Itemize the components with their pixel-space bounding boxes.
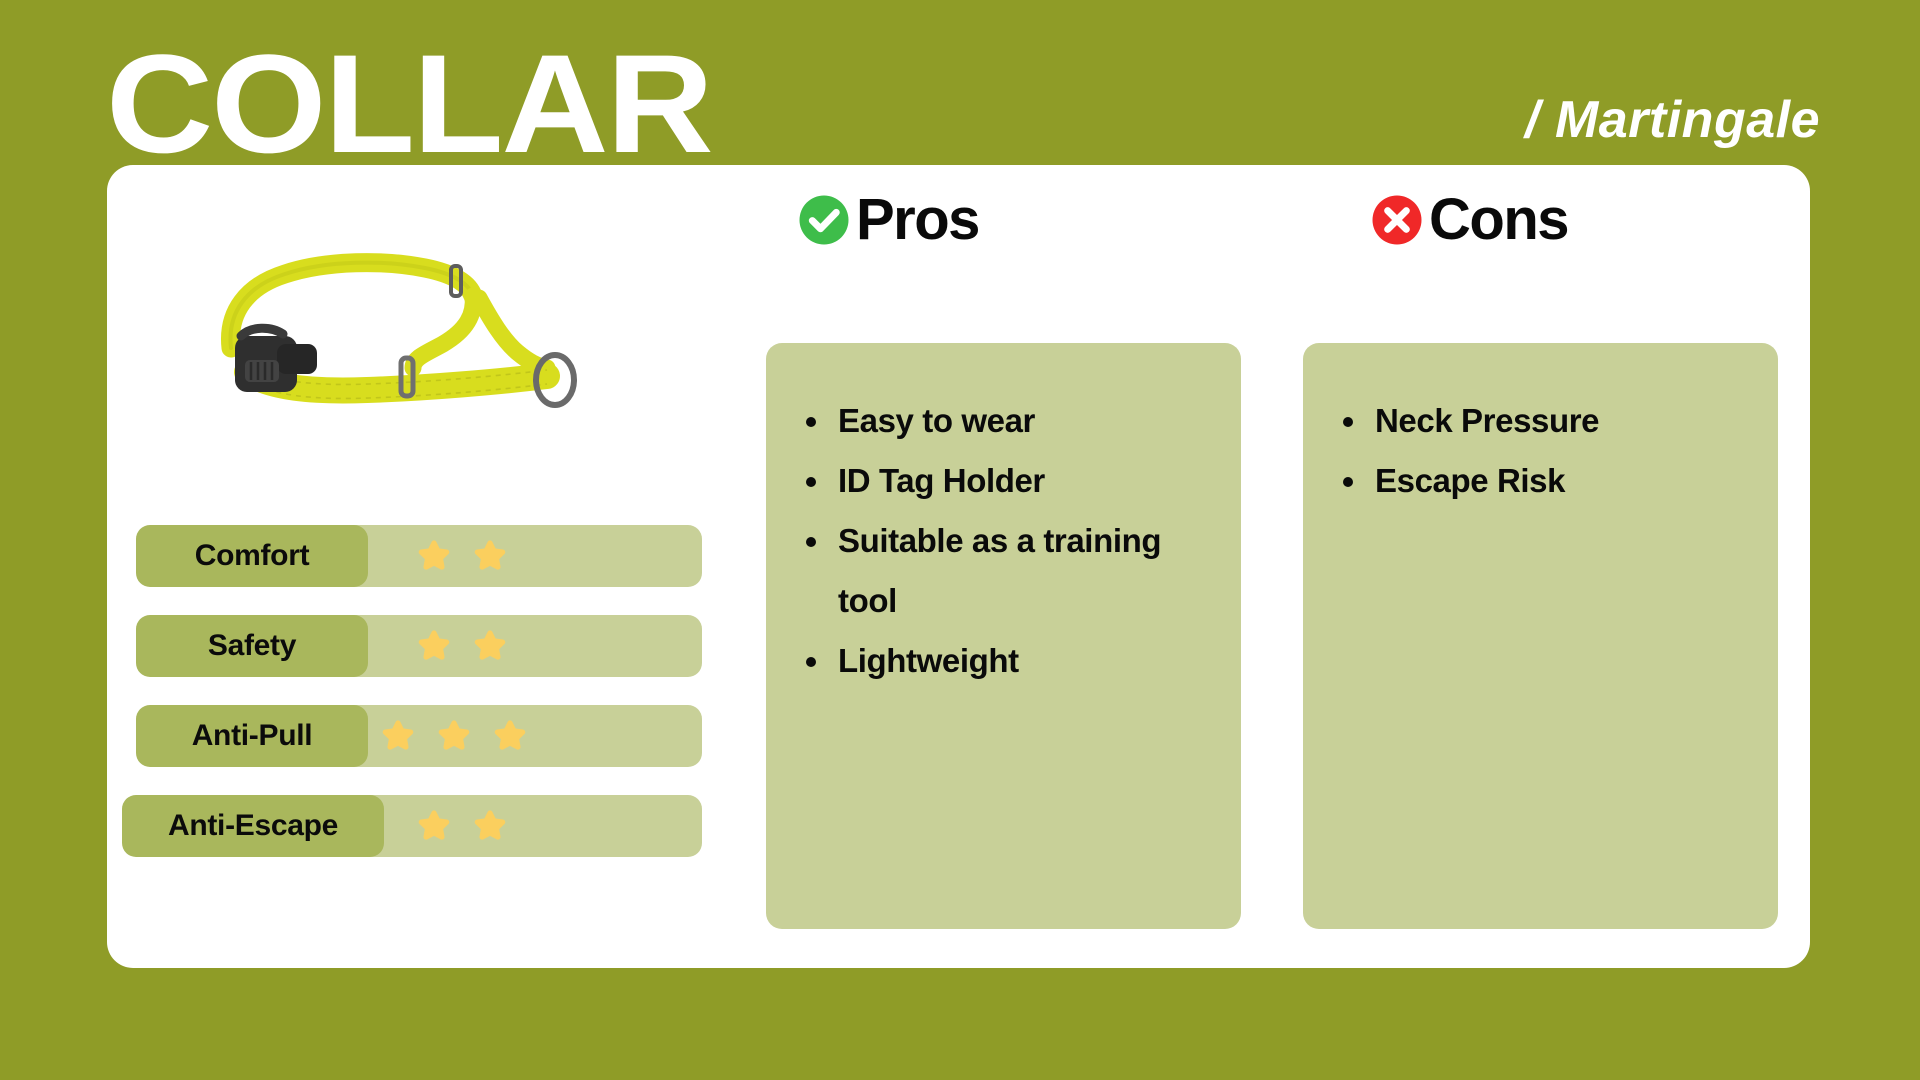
pros-heading-label: Pros: [856, 191, 979, 249]
star-icon: [414, 626, 454, 666]
rating-stars-anti-escape: [414, 795, 510, 857]
star-icon: [434, 716, 474, 756]
product-image-area: [117, 200, 717, 490]
cons-list: Neck Pressure Escape Risk: [1337, 391, 1754, 511]
variant-title: / Martingale: [1525, 92, 1820, 148]
list-item: ID Tag Holder: [826, 451, 1217, 511]
star-icon: [490, 716, 530, 756]
pros-card: Easy to wear ID Tag Holder Suitable as a…: [766, 343, 1241, 929]
rating-stars-anti-pull: [378, 705, 530, 767]
rating-label-safety: Safety: [136, 615, 368, 677]
rating-label-comfort: Comfort: [136, 525, 368, 587]
rating-row: Anti-Pull: [122, 705, 712, 767]
page-title: COLLAR: [106, 34, 712, 174]
rating-label-anti-escape: Anti-Escape: [122, 795, 384, 857]
rating-label-anti-pull: Anti-Pull: [136, 705, 368, 767]
pros-column: Pros Easy to wear ID Tag Holder Suitable…: [766, 185, 1241, 255]
list-item: Easy to wear: [826, 391, 1217, 451]
rating-row: Comfort: [122, 525, 712, 587]
pros-list: Easy to wear ID Tag Holder Suitable as a…: [800, 391, 1217, 691]
check-circle-icon: [796, 192, 852, 248]
list-item: Neck Pressure: [1363, 391, 1754, 451]
list-item: Suitable as a training tool: [826, 511, 1217, 631]
star-icon: [470, 536, 510, 576]
x-circle-icon: [1369, 192, 1425, 248]
rating-stars-safety: [414, 615, 510, 677]
rating-stars-comfort: [414, 525, 510, 587]
star-icon: [470, 806, 510, 846]
star-icon: [414, 536, 454, 576]
cons-heading-label: Cons: [1429, 191, 1568, 249]
cons-heading: Cons: [1369, 185, 1778, 255]
rating-row: Anti-Escape: [122, 795, 712, 857]
list-item: Lightweight: [826, 631, 1217, 691]
star-icon: [378, 716, 418, 756]
martingale-collar-image: [217, 240, 577, 430]
star-icon: [470, 626, 510, 666]
cons-card: Neck Pressure Escape Risk: [1303, 343, 1778, 929]
rating-row: Safety: [122, 615, 712, 677]
pros-heading: Pros: [796, 185, 1241, 255]
main-content-card: Comfort Safety Anti-Pull: [107, 165, 1810, 968]
cons-column: Cons Neck Pressure Escape Risk: [1303, 185, 1778, 255]
ratings-list: Comfort Safety Anti-Pull: [122, 525, 712, 885]
list-item: Escape Risk: [1363, 451, 1754, 511]
star-icon: [414, 806, 454, 846]
infographic-stage: COLLAR: [0, 0, 1920, 1080]
